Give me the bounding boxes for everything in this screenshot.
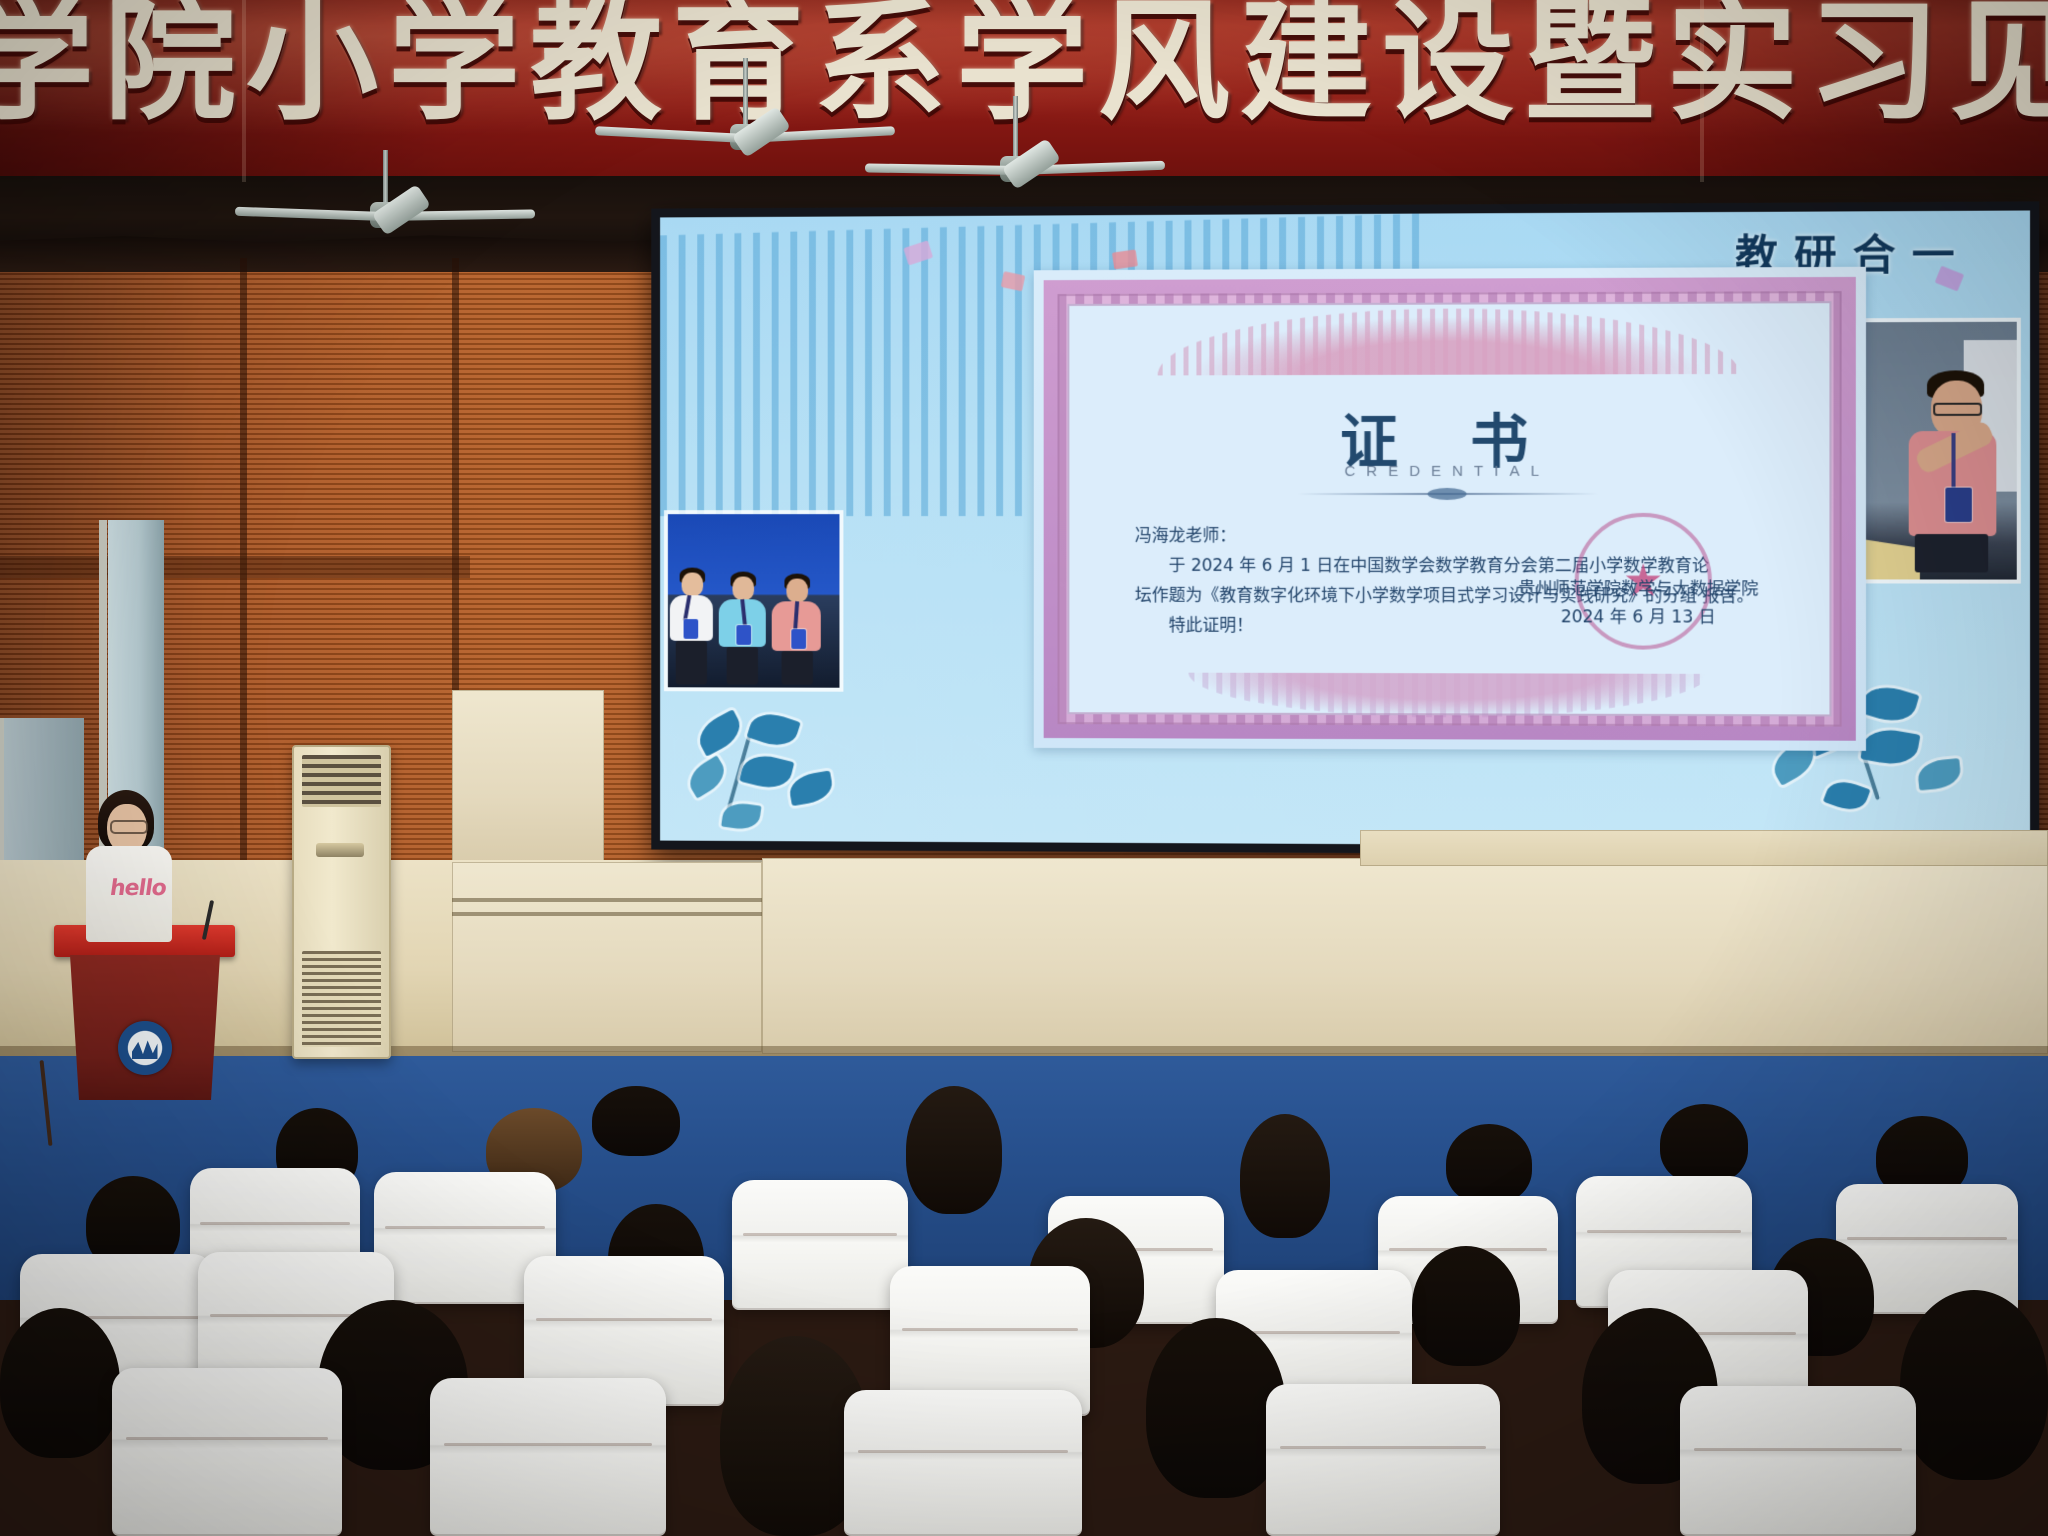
university-emblem: [118, 1021, 172, 1075]
audience-head: [0, 1308, 120, 1458]
audience-head: [1412, 1246, 1520, 1366]
stage-panel: [452, 862, 762, 1052]
air-conditioner: [292, 745, 391, 1059]
audience-chair: [1680, 1386, 1916, 1536]
audience-head: [1446, 1124, 1532, 1204]
photo-person-main: [1888, 370, 1998, 572]
certificate-issuer: 贵州师范学院数学与大数据学院: [1518, 575, 1758, 603]
leaf-decor-left: [687, 712, 883, 832]
ceiling-fan: [595, 58, 895, 138]
photo-person: [772, 574, 821, 685]
confetti-piece: [1112, 249, 1138, 269]
photo-person: [670, 568, 713, 685]
stage-ledge: [1360, 830, 2048, 866]
certificate-divider: [1297, 493, 1598, 495]
audience-chair: [732, 1180, 908, 1310]
audience-chair: [430, 1378, 666, 1536]
audience-head: [592, 1086, 680, 1156]
audience-chair: [1266, 1384, 1500, 1536]
audience-head: [906, 1086, 1002, 1214]
door-left-partial[interactable]: [0, 718, 84, 878]
photo-scene: 学院小学教育系学风建设暨实习见习总: [0, 0, 2048, 1536]
slide: 教研合一: [660, 210, 2030, 847]
certificate-date: 2024 年 6 月 13 日: [1518, 603, 1758, 631]
audience-head: [1240, 1114, 1330, 1238]
audience-chair: [844, 1390, 1082, 1536]
audience-head: [1900, 1290, 2048, 1480]
stage-panel-wide: [762, 858, 2048, 1054]
photo-inset-left: [668, 514, 840, 688]
podium: [62, 925, 227, 1100]
audience-head: [1146, 1318, 1286, 1498]
certificate: 证 书 CREDENTIAL 冯海龙老师： 于 2024 年 6 月 1 日在中…: [1034, 267, 1866, 751]
audience-chair: [112, 1368, 342, 1536]
ceiling-fan: [860, 96, 1170, 176]
ceiling-fan: [230, 150, 540, 230]
speaker-shirt-graphic: hello: [108, 876, 167, 901]
audience-head: [1660, 1104, 1748, 1184]
projection-screen[interactable]: 教研合一: [651, 201, 2039, 856]
certificate-signature: 贵州师范学院数学与大数据学院 2024 年 6 月 13 日: [1518, 575, 1758, 632]
certificate-subtitle: CREDENTIAL: [1067, 462, 1831, 480]
photo-person: [719, 572, 766, 685]
